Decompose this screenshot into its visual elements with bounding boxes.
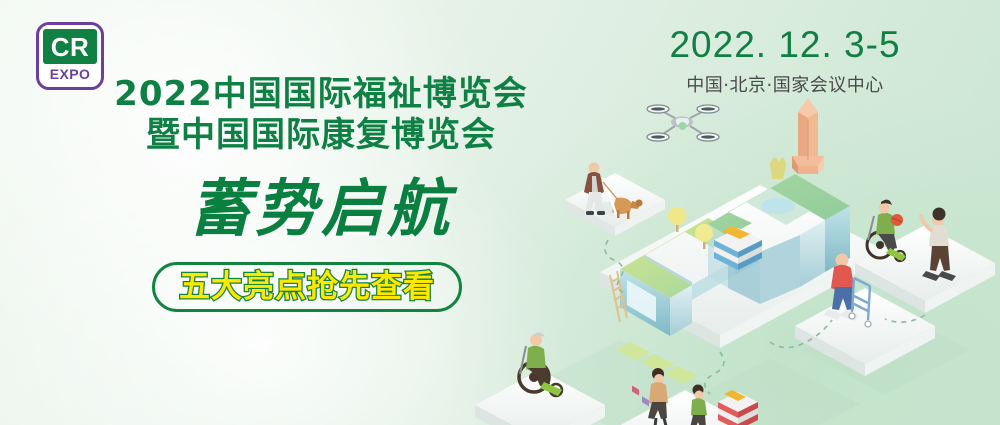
event-date: 2022. 12. 3-5 [640,24,930,67]
isometric-illustration [470,90,1000,425]
expo-banner: CR EXPO 2022中国国际福祉博览会 暨中国国际康复博览会 蓄势启航 五大… [0,0,1000,425]
event-date-block: 2022. 12. 3-5 中国·北京·国家会议中心 [640,24,930,97]
logo-cr-text: CR [51,34,90,60]
drone-icon [647,105,719,141]
highlights-cta-label: 五大亮点抢先查看 [179,272,435,303]
logo-expo-text: EXPO [50,67,91,81]
obelisk-tower [792,98,824,174]
highlights-cta-button[interactable]: 五大亮点抢先查看 [152,262,462,312]
logo-cr-badge: CR [43,29,97,64]
